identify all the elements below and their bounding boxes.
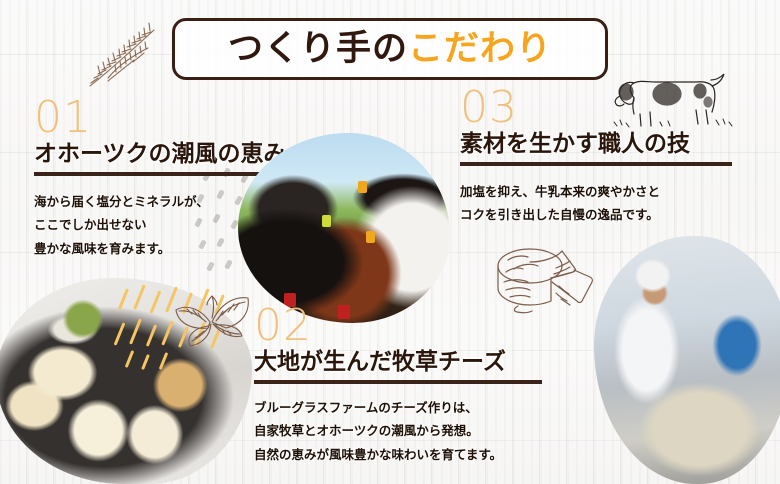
section-03-heading: 素材を生かす職人の技 — [460, 132, 750, 157]
section-02-body-line: 自然の恵みが風味豊かな味わいを育てます。 — [254, 443, 554, 466]
section-01-number: 01 — [34, 96, 302, 140]
rosemary-sprig-icon — [78, 16, 174, 94]
cows-photo — [238, 133, 450, 323]
section-01-rule — [34, 172, 286, 176]
section-03-body-line: コクを引き出した自慢の逸品です。 — [460, 203, 750, 226]
section-03: 03 素材を生かす職人の技 加塩を抑え、牛乳本来の爽やかさと コクを引き出した自… — [460, 86, 750, 227]
page-title-prefix: つくり手の — [228, 29, 408, 69]
section-02: 02 大地が生んだ牧草チーズ ブルーグラスファームのチーズ作りは、 自家牧草とオ… — [254, 304, 554, 466]
section-02-number: 02 — [254, 304, 554, 348]
section-03-body-line: 加塩を抑え、牛乳本来の爽やかさと — [460, 180, 750, 203]
section-02-rule — [254, 380, 542, 384]
section-03-rule — [460, 162, 732, 166]
section-03-number: 03 — [460, 86, 750, 130]
dash-marks-decoration — [118, 284, 248, 370]
cheesemaker-photo — [594, 236, 780, 484]
page-title-accent: こだわり — [408, 29, 552, 69]
section-02-body-line: ブルーグラスファームのチーズ作りは、 — [254, 396, 554, 419]
section-02-heading: 大地が生んだ牧草チーズ — [254, 350, 554, 375]
page-title: つくり手のこだわり — [172, 18, 608, 80]
section-02-body-line: 自家牧草とオホーツクの潮風から発想。 — [254, 419, 554, 442]
promo-banner: つくり手のこだわり — [0, 0, 780, 484]
section-01-heading: オホーツクの潮風の恵み — [34, 142, 302, 167]
